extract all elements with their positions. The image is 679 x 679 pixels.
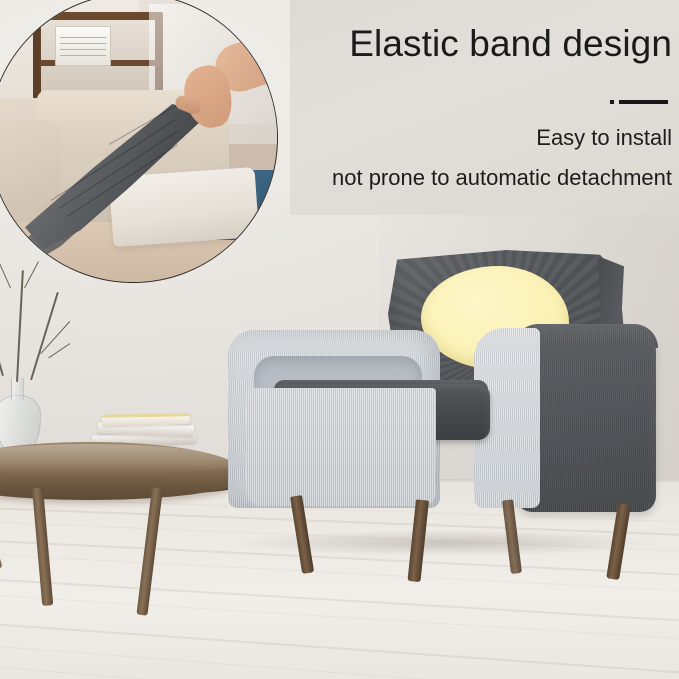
- subtitle-line-2: not prone to automatic detachment: [200, 165, 672, 191]
- book-stack: [92, 412, 200, 446]
- subtitle-line-1: Easy to install: [260, 125, 672, 151]
- page-title: Elastic band design: [300, 24, 672, 65]
- chair-front-panel: [246, 388, 436, 506]
- table-leg: [32, 488, 53, 607]
- divider-bar: [619, 100, 668, 104]
- table-top-gloss: [0, 444, 228, 474]
- title-divider: [610, 97, 668, 106]
- product-marketing-image: Elastic band design Easy to install not …: [0, 0, 679, 679]
- framed-calendar: [55, 26, 111, 66]
- divider-dot: [610, 100, 614, 104]
- coffee-table: [0, 430, 260, 630]
- table-leg: [136, 487, 163, 615]
- table-leg: [0, 485, 3, 570]
- installation-demo-circle: [0, 0, 278, 283]
- armchair: [228, 238, 679, 558]
